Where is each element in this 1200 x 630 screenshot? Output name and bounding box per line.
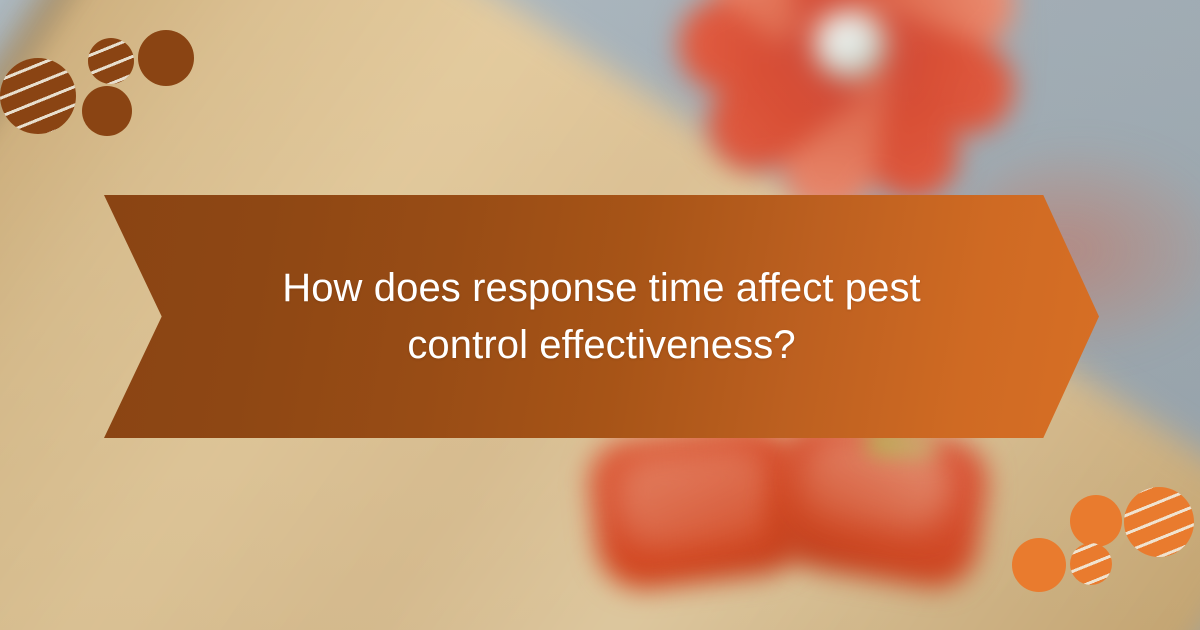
dot-plain-large <box>138 30 194 86</box>
dot-stripe-pattern <box>1070 543 1112 585</box>
social-card-canvas: How does response time affect pest contr… <box>0 0 1200 630</box>
dot-striped-large <box>0 58 76 134</box>
dot-plain-medium <box>82 86 132 136</box>
dot-striped-small <box>88 38 134 84</box>
dot-striped-large <box>1124 487 1194 557</box>
dot-stripe-pattern <box>88 38 134 84</box>
banner-question-title: How does response time affect pest contr… <box>254 260 949 374</box>
dot-plain-medium <box>1070 495 1122 547</box>
dot-plain-large <box>1012 538 1066 592</box>
dot-stripe-pattern <box>1124 487 1194 557</box>
question-banner: How does response time affect pest contr… <box>104 195 1099 438</box>
dot-striped-small <box>1070 543 1112 585</box>
dot-stripe-pattern <box>0 58 76 134</box>
